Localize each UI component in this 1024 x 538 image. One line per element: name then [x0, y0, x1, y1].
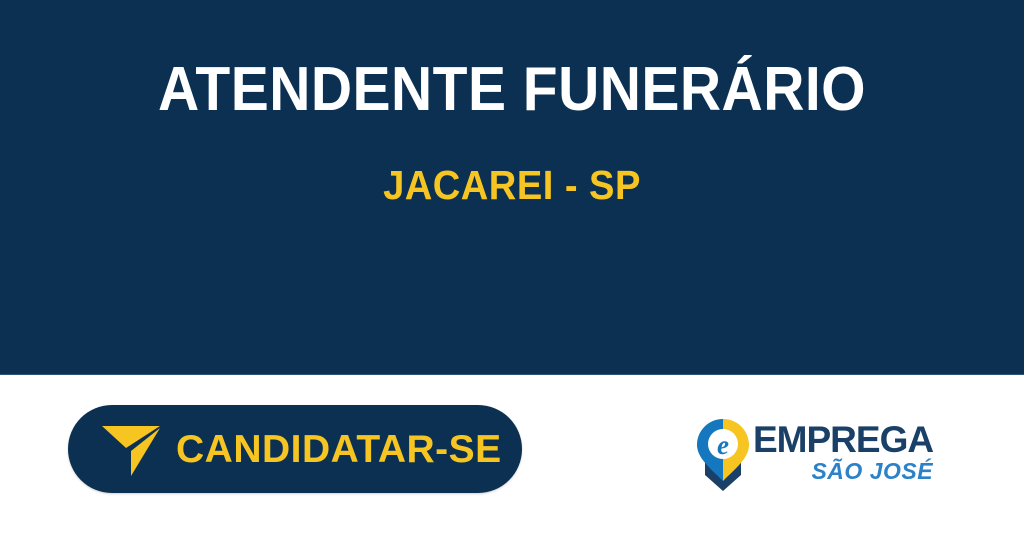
- job-location-subtitle: JACAREI - SP: [36, 160, 988, 210]
- apply-button[interactable]: CANDIDATAR-SE: [68, 405, 522, 493]
- map-pin-icon: e: [697, 419, 749, 491]
- hero-banner: ATENDENTE FUNERÁRIO JACAREI - SP: [0, 0, 1024, 375]
- brand-name: EMPREGA: [753, 421, 933, 458]
- brand-logo: e EMPREGA SÃO JOSÉ: [697, 419, 913, 493]
- apply-button-label: CANDIDATAR-SE: [176, 430, 502, 469]
- page-title: ATENDENTE FUNERÁRIO: [41, 53, 983, 127]
- pin-letter: e: [717, 430, 729, 460]
- brand-city: SÃO JOSÉ: [811, 459, 933, 484]
- send-icon: [100, 418, 162, 480]
- brand-wordmark: EMPREGA SÃO JOSÉ: [753, 421, 933, 484]
- job-posting-card: ATENDENTE FUNERÁRIO JACAREI - SP CANDIDA…: [0, 0, 1024, 538]
